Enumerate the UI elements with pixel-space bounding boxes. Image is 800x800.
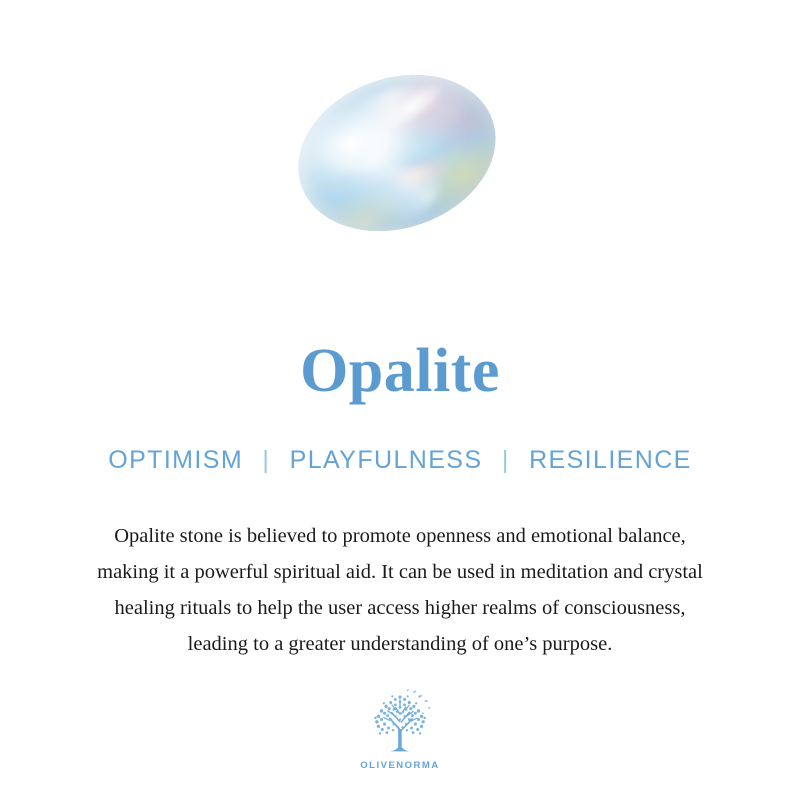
description-line: making it a powerful spiritual aid. It c… [40,554,760,590]
description-paragraph: Opalite stone is believed to promote ope… [40,518,760,662]
tree-icon [361,684,439,758]
hero-image-area [0,0,800,300]
keyword-playfulness: PLAYFULNESS [290,446,483,474]
keyword-resilience: RESILIENCE [529,446,692,474]
keyword-separator-1: | [251,444,281,476]
brand-logo: OLIVENORMA [0,684,800,771]
description-line: healing rituals to help the user access … [40,590,760,626]
description-line: Opalite stone is believed to promote ope… [40,518,760,554]
opalite-info-card: Opalite OPTIMISM | PLAYFULNESS | RESILIE… [0,0,800,800]
brand-wordmark: OLIVENORMA [0,760,800,771]
keyword-list: OPTIMISM | PLAYFULNESS | RESILIENCE [0,444,800,476]
page-title: Opalite [0,336,800,406]
opalite-stone-image [277,49,517,257]
description-line: leading to a greater understanding of on… [40,626,760,662]
keyword-optimism: OPTIMISM [108,446,243,474]
keyword-separator-2: | [491,444,521,476]
